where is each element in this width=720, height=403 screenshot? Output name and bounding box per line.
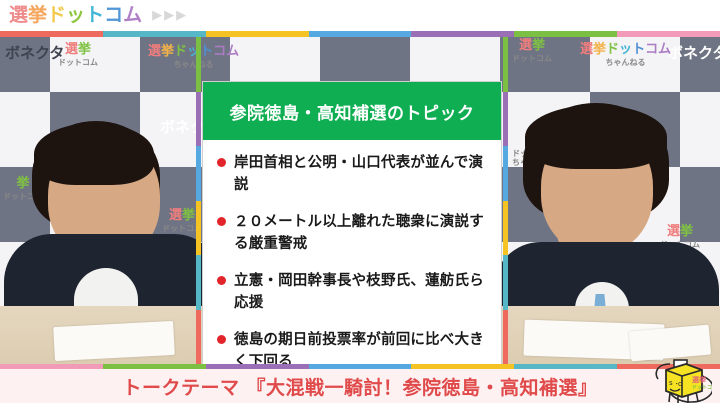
- bullet-dot-icon: [217, 217, 226, 226]
- vstripe-segment-0: [196, 37, 201, 92]
- list-item: 徳島の期日前投票率が前回に比べ大きく下回る: [217, 329, 487, 364]
- logo-char-1: 挙: [28, 6, 47, 25]
- topic-panel: 参院徳島・高知補選のトピック 岸田首相と公明・山口代表が並んで演説 ２０メートル…: [202, 81, 502, 364]
- talk-theme-label: トークテーマ 『大混戦一騎討！参院徳島・高知補選』: [122, 373, 597, 400]
- mascot-character: s ･ c 選挙 ドットコム: [644, 358, 712, 403]
- list-item-label: ２０メートル以上離れた聴衆に演説する厳重警戒: [234, 211, 487, 256]
- logo-char-3: ッ: [66, 6, 85, 25]
- logo-char-4: ト: [85, 6, 104, 25]
- right-vertical-stripe: [503, 37, 508, 364]
- vstripe-segment-1: [503, 92, 508, 147]
- vstripe-segment-4: [503, 255, 508, 310]
- talk-theme-banner: トークテーマ 『大混戦一騎討！参院徳島・高知補選』: [0, 369, 720, 403]
- list-item: 立憲・岡田幹事長や枝野氏、蓮舫氏ら応援: [217, 270, 487, 315]
- topic-list: 岸田首相と公明・山口代表が並んで演説 ２０メートル以上離れた聴衆に演説する厳重警…: [203, 140, 501, 364]
- list-item-label: 立憲・岡田幹事長や枝野氏、蓮舫氏ら応援: [234, 270, 487, 315]
- svg-text:選挙: 選挙: [692, 375, 706, 384]
- logo-char-0: 選: [9, 6, 28, 25]
- logo-char-2: ド: [47, 6, 66, 25]
- list-item-label: 徳島の期日前投票率が前回に比べ大きく下回る: [234, 329, 487, 364]
- bullet-dot-icon: [217, 276, 226, 285]
- svg-text:c: c: [678, 380, 682, 388]
- hair-front: [34, 123, 154, 185]
- list-item-label: 岸田首相と公明・山口代表が並んで演説: [234, 152, 487, 197]
- vstripe-segment-2: [196, 146, 201, 201]
- bullet-dot-icon: [217, 335, 226, 344]
- document-paper: [629, 325, 711, 362]
- vstripe-segment-3: [196, 201, 201, 256]
- topic-panel-title: 参院徳島・高知補選のトピック: [203, 82, 501, 140]
- hair-front: [525, 105, 667, 169]
- mascot-icon: s ･ c 選挙 ドットコム: [644, 358, 712, 403]
- video-stage: 選挙 ドットコム 選挙ドットコム ちゃんねる ボネクタ ボネクタ 選挙 ドットコ…: [0, 37, 720, 364]
- top-header-bar: 選挙ドットコム ▶▶▶: [0, 0, 720, 31]
- vstripe-segment-1: [196, 92, 201, 147]
- svg-text:ドットコム: ドットコム: [692, 385, 712, 391]
- vstripe-segment-3: [503, 201, 508, 256]
- svg-text:s: s: [669, 379, 673, 387]
- vstripe-segment-4: [196, 255, 201, 310]
- vstripe-segment-0: [503, 37, 508, 92]
- site-logo[interactable]: 選挙ドットコム: [9, 6, 142, 25]
- logo-char-6: ム: [123, 6, 142, 25]
- left-vertical-stripe: [196, 37, 201, 364]
- document-paper: [53, 321, 175, 361]
- vstripe-segment-5: [503, 310, 508, 365]
- vstripe-segment-2: [503, 146, 508, 201]
- vstripe-segment-5: [196, 310, 201, 365]
- list-item: 岸田首相と公明・山口代表が並んで演説: [217, 152, 487, 197]
- logo-char-5: コ: [104, 6, 123, 25]
- list-item: ２０メートル以上離れた聴衆に演説する厳重警戒: [217, 211, 487, 256]
- bullet-dot-icon: [217, 158, 226, 167]
- triple-arrow-icon: ▶▶▶: [152, 8, 188, 23]
